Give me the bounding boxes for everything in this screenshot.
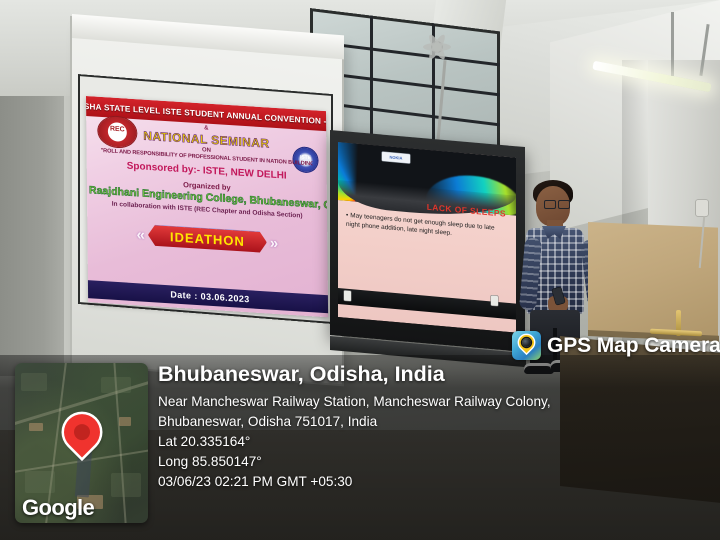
screenshot-root: ODISHA STATE LEVEL ISTE STUDENT ANNUAL C… <box>0 0 720 540</box>
gps-map-camera-watermark: GPS Map Camera <box>512 331 720 360</box>
bullet-icon: • <box>346 211 348 220</box>
poster-date-text: Date : 03.06.2023 <box>170 289 249 304</box>
display-button-left <box>344 291 351 302</box>
location-address-1: Near Mancheswar Railway Station, Manches… <box>158 392 720 412</box>
slide-bullet-text: May teenagers do not get enough sleep du… <box>346 212 495 237</box>
door-edge <box>64 96 71 378</box>
wall-fan-icon <box>420 30 454 64</box>
map-pin-marker <box>64 414 100 450</box>
poster-event-band: « IDEATHON » <box>87 218 327 259</box>
wall-socket-icon <box>696 200 708 216</box>
location-address-2: Bhubaneswar, Odisha 751017, India <box>158 412 720 432</box>
chevron-right-icon: » <box>270 234 279 252</box>
gps-app-name: GPS Map Camera <box>547 334 720 358</box>
location-longitude: Long 85.850147° <box>158 452 720 472</box>
map-thumbnail[interactable]: Google <box>15 363 148 523</box>
location-details: Bhubaneswar, Odisha, India Near Manchesw… <box>158 363 720 491</box>
chevron-left-icon: « <box>137 226 146 244</box>
camera-lens-shape <box>522 338 531 347</box>
location-latitude: Lat 20.335164° <box>158 432 720 452</box>
location-title: Bhubaneswar, Odisha, India <box>158 363 720 387</box>
event-poster: ODISHA STATE LEVEL ISTE STUDENT ANNUAL C… <box>86 96 328 317</box>
eyeglasses-icon <box>544 200 570 207</box>
wooden-board <box>588 222 718 340</box>
gps-map-camera-icon <box>512 331 541 360</box>
google-attribution: Google <box>22 495 94 521</box>
display-button-right <box>491 295 498 306</box>
light-rod-a <box>671 12 674 76</box>
location-timestamp: 03/06/23 02:21 PM GMT +05:30 <box>158 472 720 492</box>
poster-event-name: IDEATHON <box>148 224 267 253</box>
